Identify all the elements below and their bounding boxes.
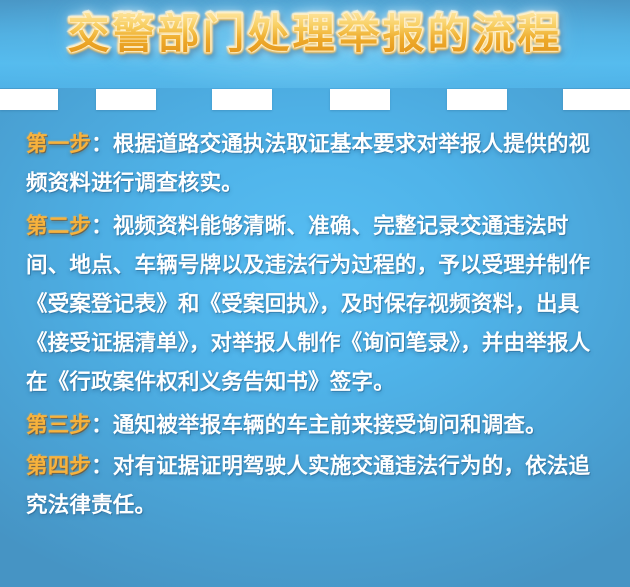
steps-body: 第一步：根据道路交通执法取证基本要求对举报人提供的视频资料进行调查核实。 第二步… [0,125,630,528]
step-paragraph-2: 第二步：视频资料能够清晰、准确、完整记录交通违法时间、地点、车辆号牌以及违法行为… [26,207,606,402]
road-dash [563,89,630,110]
road-dashed-line [0,88,630,112]
step-3-text: 通知被举报车辆的车主前来接受询问和调查。 [113,413,547,438]
page-title-wrap: 交警部门处理举报的流程 [0,13,630,55]
step-2-colon: ： [91,214,113,239]
page-title: 交警部门处理举报的流程 [67,13,562,55]
step-2-label: 第二步 [26,214,91,239]
step-1-colon: ： [91,132,113,157]
step-paragraph-1: 第一步：根据道路交通执法取证基本要求对举报人提供的视频资料进行调查核实。 [26,125,606,203]
step-4-colon: ： [91,454,113,479]
step-3-label: 第三步 [26,413,91,438]
poster-canvas: 交警部门处理举报的流程 交警部门处理举报的流程 第一步：根据道路交通执法取证基本… [0,0,630,587]
road-dash [447,89,507,110]
road-dash [0,89,58,110]
step-paragraph-4: 第四步：对有证据证明驾驶人实施交通违法行为的，依法追究法律责任。 [26,447,606,525]
step-paragraph-3: 第三步：通知被举报车辆的车主前来接受询问和调查。 [26,406,606,445]
header-band: 交警部门处理举报的流程 交警部门处理举报的流程 [0,0,630,88]
step-1-label: 第一步 [26,132,91,157]
step-4-label: 第四步 [26,454,91,479]
road-dash [96,89,156,110]
road-dash [330,89,390,110]
road-dash [212,89,272,110]
step-3-colon: ： [91,413,113,438]
step-2-text: 视频资料能够清晰、准确、完整记录交通违法时间、地点、车辆号牌以及违法行为过程的，… [26,214,590,395]
